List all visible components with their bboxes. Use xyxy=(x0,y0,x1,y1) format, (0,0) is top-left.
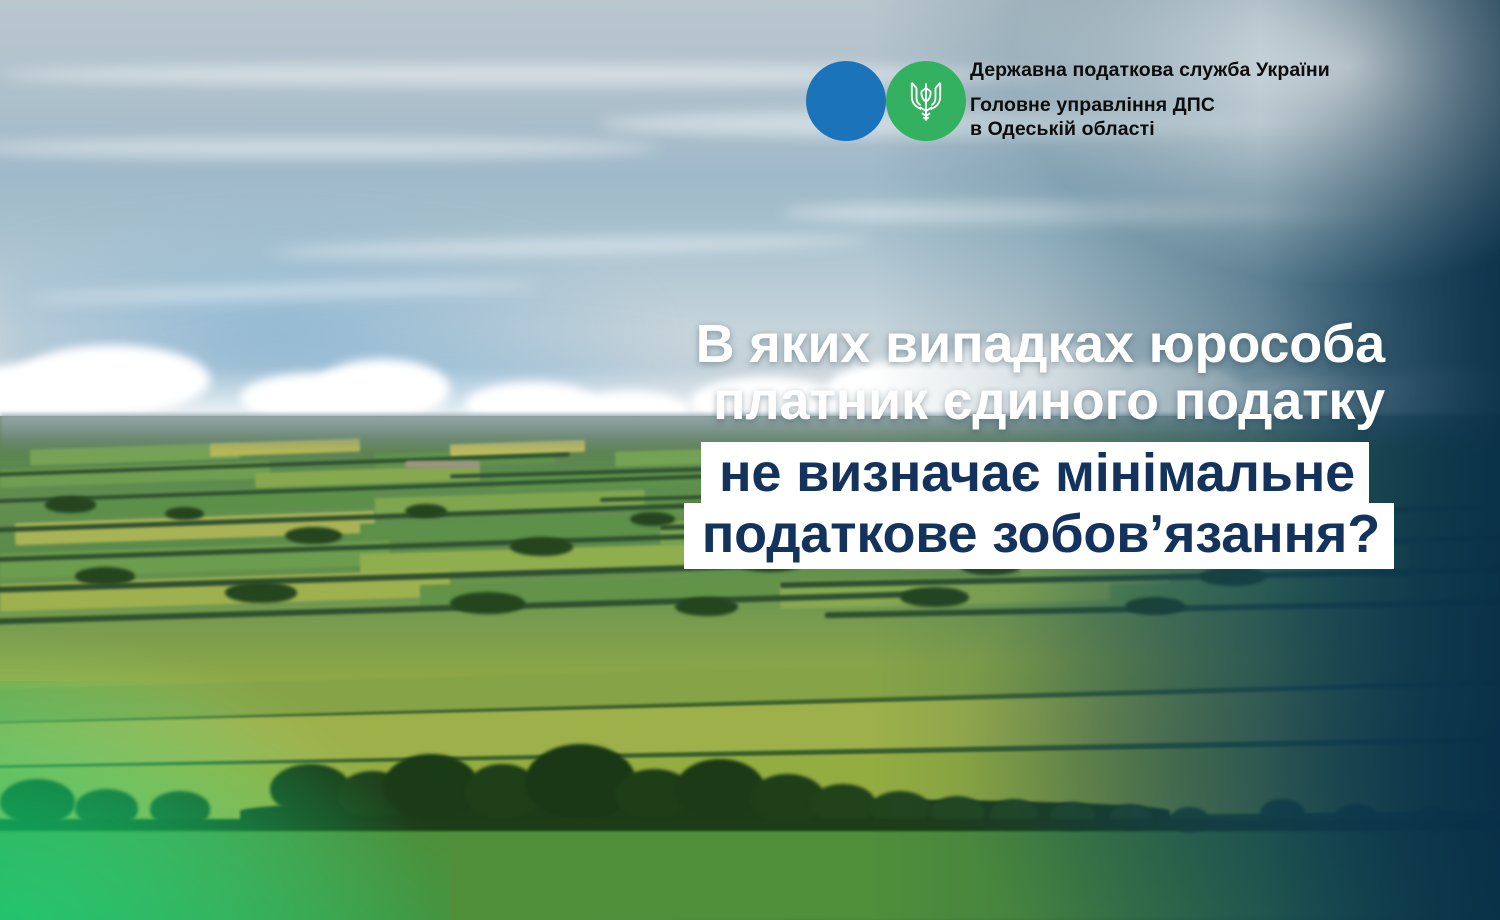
headline-highlight-line-1: не визначає мінімальне xyxy=(701,442,1369,504)
blue-circle-icon xyxy=(806,61,886,141)
ukraine-trident-icon xyxy=(909,78,943,124)
headline-plain-text: В яких випадках юрособа платник єдиного … xyxy=(0,316,1395,430)
brand-title: Державна податкова служба України xyxy=(970,60,1330,81)
logo-marks xyxy=(806,61,956,141)
headline-highlight-line-2: податкове зобов’язання? xyxy=(684,503,1394,569)
headline-highlight-group: не визначає мінімальне податкове зобов’я… xyxy=(0,442,1395,568)
headline-block: В яких випадках юрособа платник єдиного … xyxy=(0,316,1395,569)
green-gradient-overlay xyxy=(0,681,450,920)
poster-canvas: Державна податкова служба України Головн… xyxy=(0,0,1500,920)
brand-subtitle: Головне управління ДПС в Одеській област… xyxy=(970,94,1330,142)
brand-text-block: Державна податкова служба України Головн… xyxy=(970,60,1330,142)
green-circle-icon xyxy=(886,61,966,141)
brand-logo-block: Державна податкова служба України Головн… xyxy=(806,60,1330,142)
